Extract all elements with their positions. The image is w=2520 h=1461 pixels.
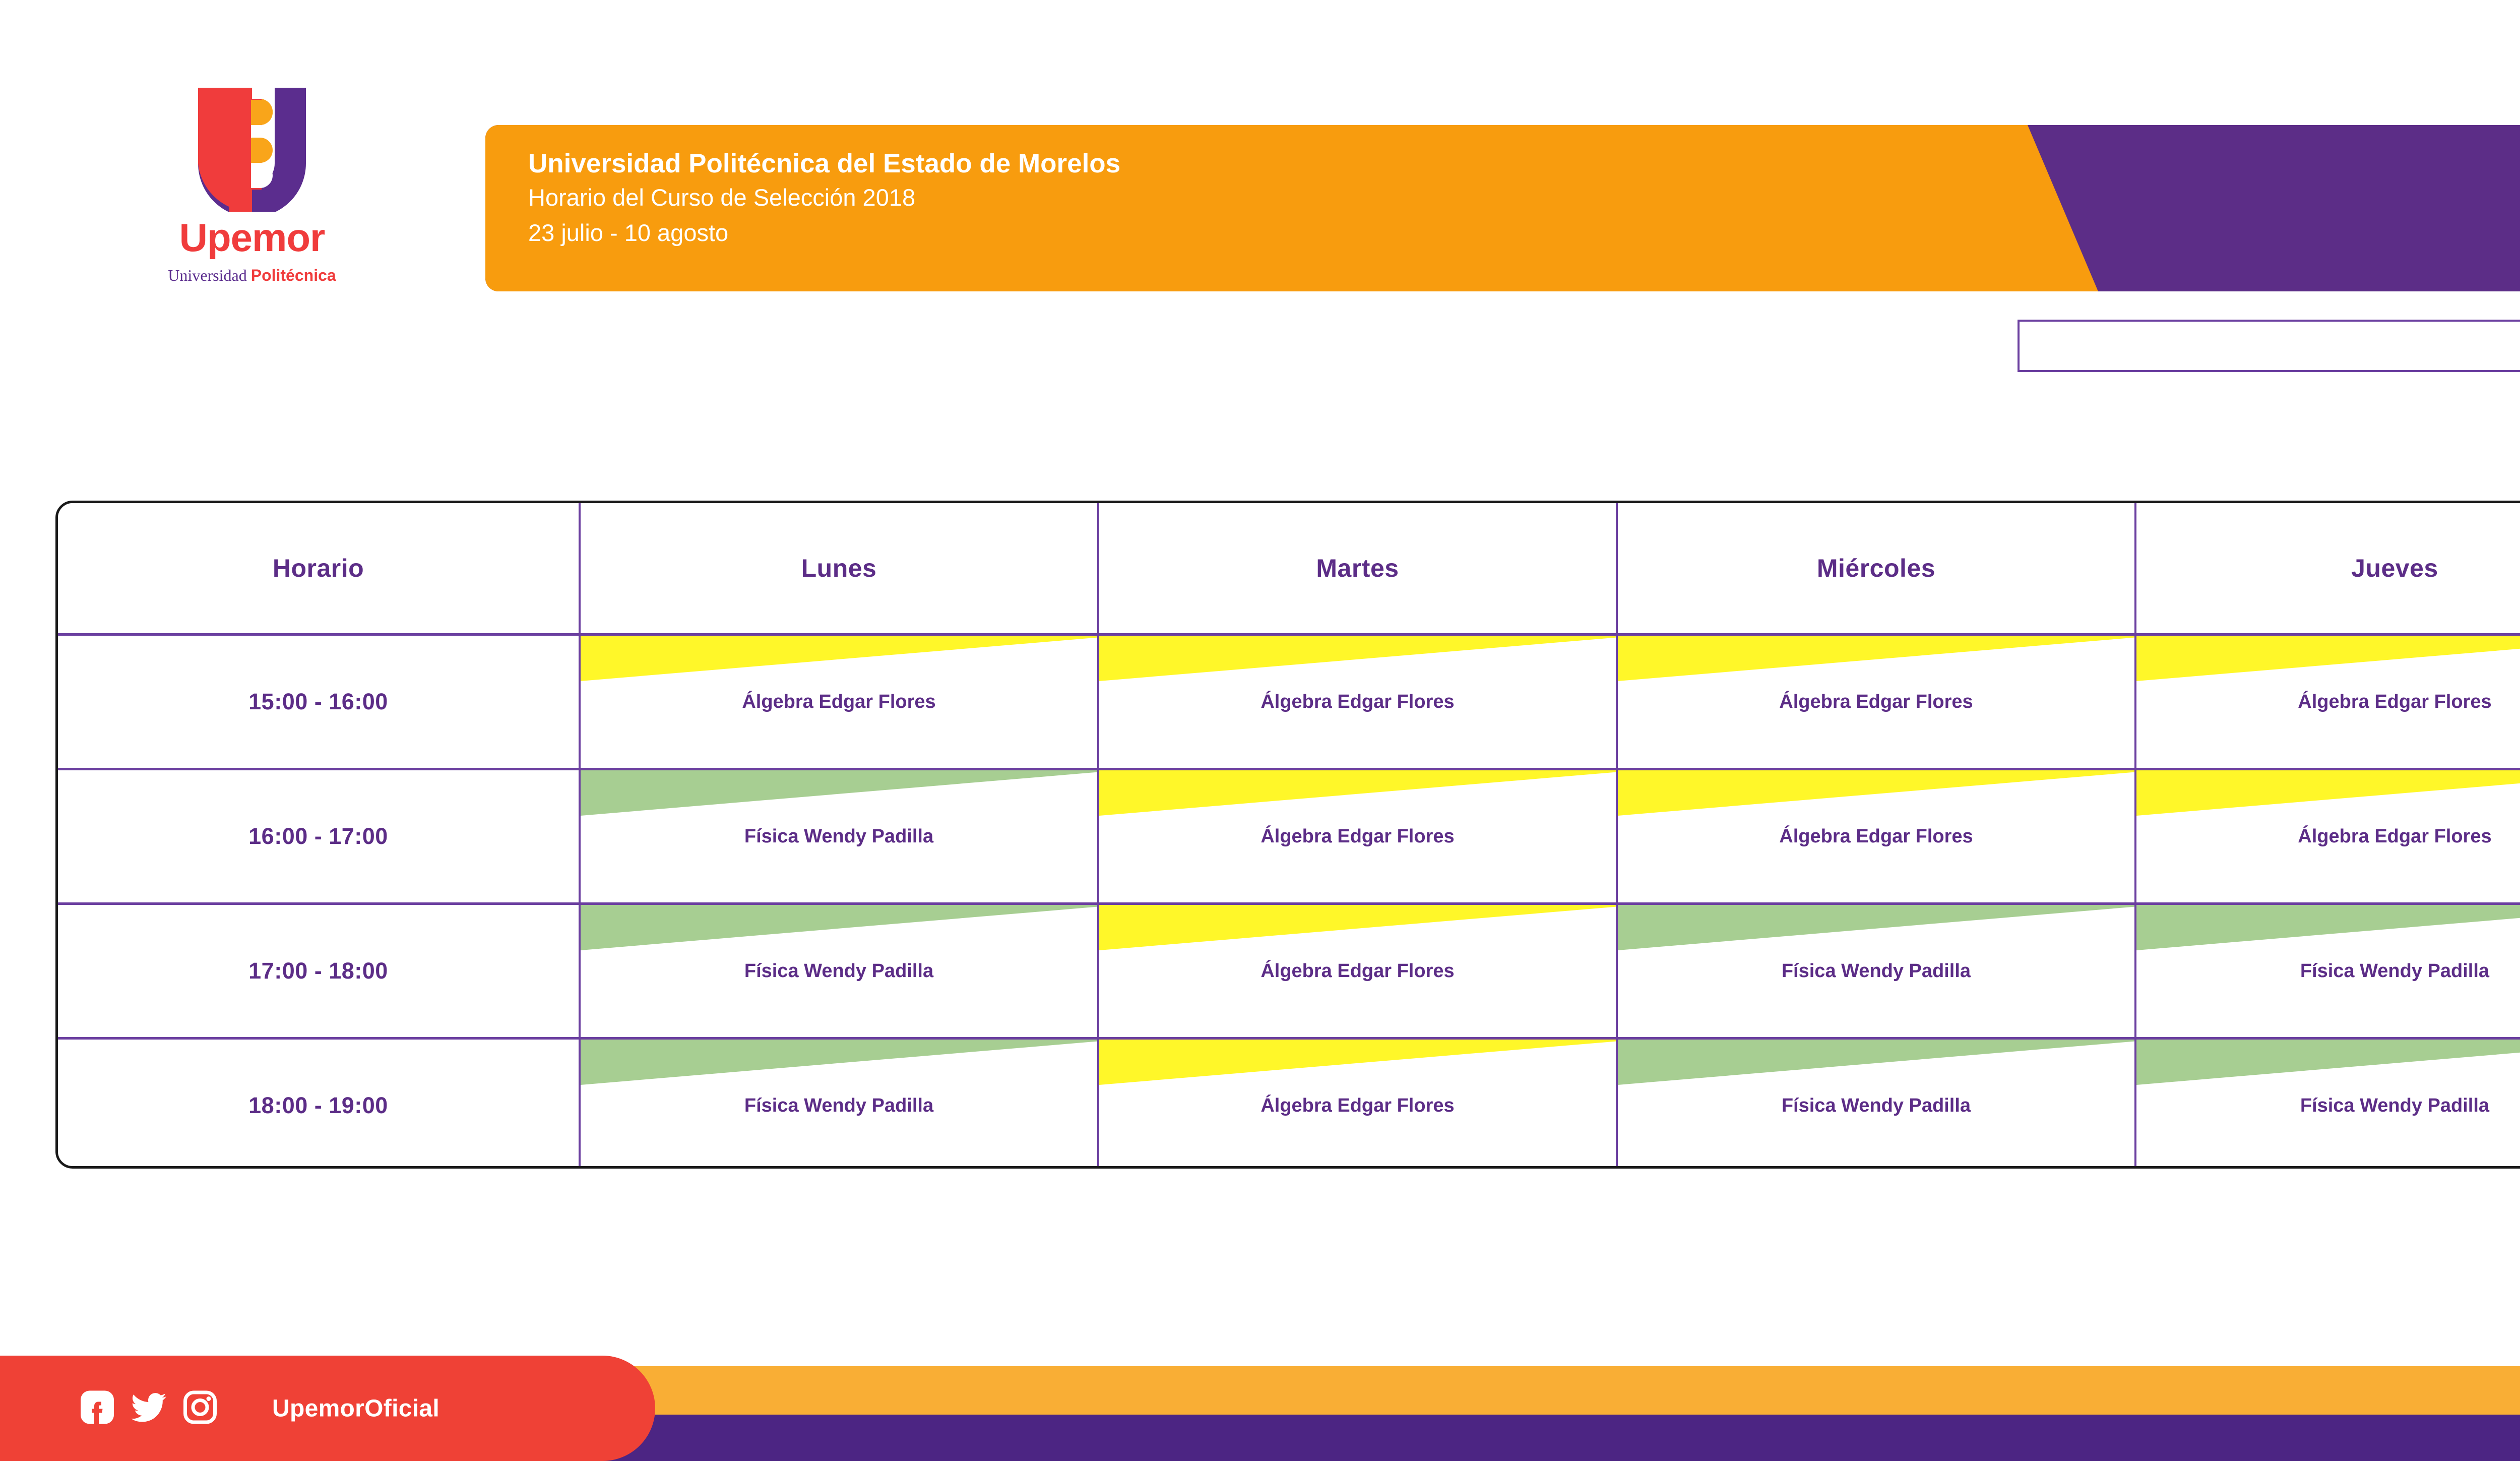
time-slot-label: 16:00 - 17:00 (58, 823, 579, 849)
room-box: Aula C204 - Edificio UD3 (2018, 320, 2520, 372)
facebook-icon[interactable] (81, 1390, 114, 1426)
class-label: Física Wendy Padilla (581, 825, 1097, 848)
column-header-horario: Horario (58, 503, 580, 635)
class-label: Álgebra Edgar Flores (1099, 960, 1616, 983)
class-label: Física Wendy Padilla (581, 960, 1097, 983)
subject-color-wedge (1099, 770, 1616, 816)
subject-color-wedge (581, 905, 1097, 950)
time-slot-label: 17:00 - 18:00 (58, 958, 579, 984)
class-label: Álgebra Edgar Flores (1618, 825, 2134, 848)
social-icon-group (81, 1390, 217, 1426)
twitter-icon[interactable] (131, 1390, 166, 1426)
class-cell: Física Wendy Padilla (2135, 904, 2520, 1039)
class-label: Álgebra Edgar Flores (1099, 691, 1616, 713)
column-header-label: Lunes (581, 554, 1097, 583)
column-header-lunes: Lunes (580, 503, 1098, 635)
subject-color-wedge (581, 770, 1097, 816)
class-cell: Álgebra Edgar Flores (1098, 904, 1617, 1039)
class-cell: Física Wendy Padilla (2135, 1039, 2520, 1169)
class-label: Física Wendy Padilla (2136, 1094, 2520, 1117)
class-cell: Física Wendy Padilla (580, 769, 1098, 904)
logo-subwordmark: Universidad Politécnica (146, 267, 358, 283)
subject-color-wedge (1618, 1040, 2134, 1085)
time-slot-cell: 18:00 - 19:00 (58, 1039, 580, 1169)
schedule-table: HorarioLunesMartesMiércolesJuevesViernes… (58, 503, 2520, 1169)
class-cell: Física Wendy Padilla (580, 1039, 1098, 1169)
subject-color-wedge (1099, 905, 1616, 950)
column-header-label: Miércoles (1618, 554, 2134, 583)
subject-color-wedge (581, 636, 1097, 681)
schedule-body: 15:00 - 16:00Álgebra Edgar FloresÁlgebra… (58, 635, 2520, 1169)
schedule-row: 18:00 - 19:00Física Wendy PadillaÁlgebra… (58, 1039, 2520, 1169)
time-slot-cell: 17:00 - 18:00 (58, 904, 580, 1039)
class-label: Álgebra Edgar Flores (1099, 825, 1616, 848)
class-cell: Álgebra Edgar Flores (1098, 769, 1617, 904)
class-cell: Física Wendy Padilla (1617, 1039, 2135, 1169)
class-label: Física Wendy Padilla (1618, 960, 2134, 983)
class-label: Física Wendy Padilla (581, 1094, 1097, 1117)
column-header-label: Horario (58, 554, 579, 583)
logo-sub-bold: Politécnica (251, 266, 336, 284)
header-banner: Universidad Politécnica del Estado de Mo… (485, 125, 2520, 291)
subject-color-wedge (2136, 770, 2520, 816)
class-label: Álgebra Edgar Flores (2136, 691, 2520, 713)
subject-color-wedge (2136, 905, 2520, 950)
column-header-label: Martes (1099, 554, 1616, 583)
class-cell: Álgebra Edgar Flores (1098, 635, 1617, 769)
upemor-logo: Upemor Universidad Politécnica (146, 86, 358, 313)
class-cell: Álgebra Edgar Flores (1617, 769, 2135, 904)
class-label: Álgebra Edgar Flores (2136, 825, 2520, 848)
class-cell: Física Wendy Padilla (1617, 904, 2135, 1039)
instagram-icon[interactable] (183, 1390, 217, 1426)
subject-color-wedge (1618, 636, 2134, 681)
header-subtitle: Horario del Curso de Selección 2018 (528, 186, 915, 209)
subject-color-wedge (1099, 636, 1616, 681)
schedule-table-container: HorarioLunesMartesMiércolesJuevesViernes… (55, 501, 2520, 1169)
time-slot-label: 15:00 - 16:00 (58, 689, 579, 715)
column-header-miercoles: Miércoles (1617, 503, 2135, 635)
column-header-label: Jueves (2136, 554, 2520, 583)
schedule-row: 17:00 - 18:00Física Wendy PadillaÁlgebra… (58, 904, 2520, 1039)
class-cell: Álgebra Edgar Flores (580, 635, 1098, 769)
class-label: Álgebra Edgar Flores (1099, 1094, 1616, 1117)
subject-color-wedge (1618, 770, 2134, 816)
class-label: Álgebra Edgar Flores (581, 691, 1097, 713)
class-label: Álgebra Edgar Flores (1618, 691, 2134, 713)
header-dates: 23 julio - 10 agosto (528, 221, 728, 245)
schedule-header-row: HorarioLunesMartesMiércolesJuevesViernes (58, 503, 2520, 635)
time-slot-cell: 15:00 - 16:00 (58, 635, 580, 769)
schedule-row: 15:00 - 16:00Álgebra Edgar FloresÁlgebra… (58, 635, 2520, 769)
subject-color-wedge (1618, 905, 2134, 950)
social-handle: UpemorOficial (272, 1394, 439, 1422)
footer-social-block: UpemorOficial (0, 1356, 655, 1461)
schedule-row: 16:00 - 17:00Física Wendy PadillaÁlgebra… (58, 769, 2520, 904)
column-header-martes: Martes (1098, 503, 1617, 635)
subject-color-wedge (1099, 1040, 1616, 1085)
subject-color-wedge (581, 1040, 1097, 1085)
class-cell: Álgebra Edgar Flores (2135, 635, 2520, 769)
time-slot-label: 18:00 - 19:00 (58, 1092, 579, 1119)
class-cell: Álgebra Edgar Flores (1098, 1039, 1617, 1169)
class-cell: Física Wendy Padilla (580, 904, 1098, 1039)
page-title: Universidad Politécnica del Estado de Mo… (528, 150, 1120, 177)
logo-sub-prefix: Universidad (168, 266, 250, 284)
logo-wordmark: Upemor (146, 218, 358, 257)
upemor-u-mark-icon (194, 86, 310, 212)
class-cell: Álgebra Edgar Flores (1617, 635, 2135, 769)
subject-color-wedge (2136, 636, 2520, 681)
class-label: Física Wendy Padilla (1618, 1094, 2134, 1117)
column-header-jueves: Jueves (2135, 503, 2520, 635)
class-cell: Álgebra Edgar Flores (2135, 769, 2520, 904)
class-label: Física Wendy Padilla (2136, 960, 2520, 983)
time-slot-cell: 16:00 - 17:00 (58, 769, 580, 904)
schedule-header: HorarioLunesMartesMiércolesJuevesViernes (58, 503, 2520, 635)
subject-color-wedge (2136, 1040, 2520, 1085)
